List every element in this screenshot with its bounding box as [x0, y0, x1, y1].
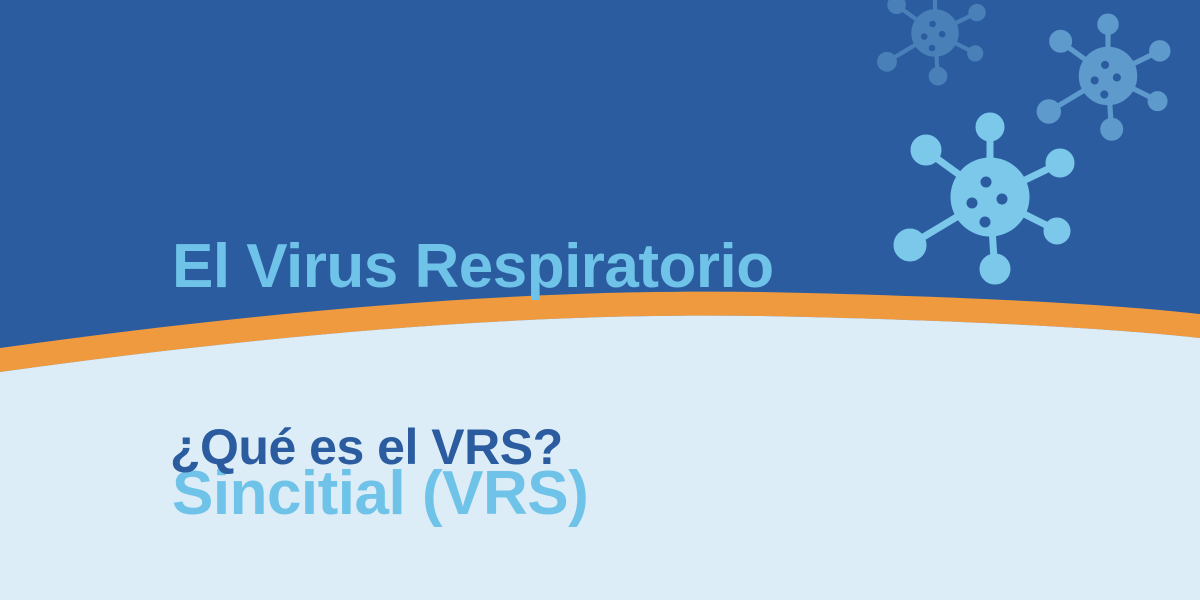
banner-canvas: El Virus Respiratorio Sincitial (VRS) ¿Q… [0, 0, 1200, 600]
banner-title-line-1: El Virus Respiratorio [172, 229, 774, 305]
section-heading: ¿Qué es el VRS? [170, 418, 563, 476]
banner-title: El Virus Respiratorio Sincitial (VRS) [172, 78, 774, 600]
